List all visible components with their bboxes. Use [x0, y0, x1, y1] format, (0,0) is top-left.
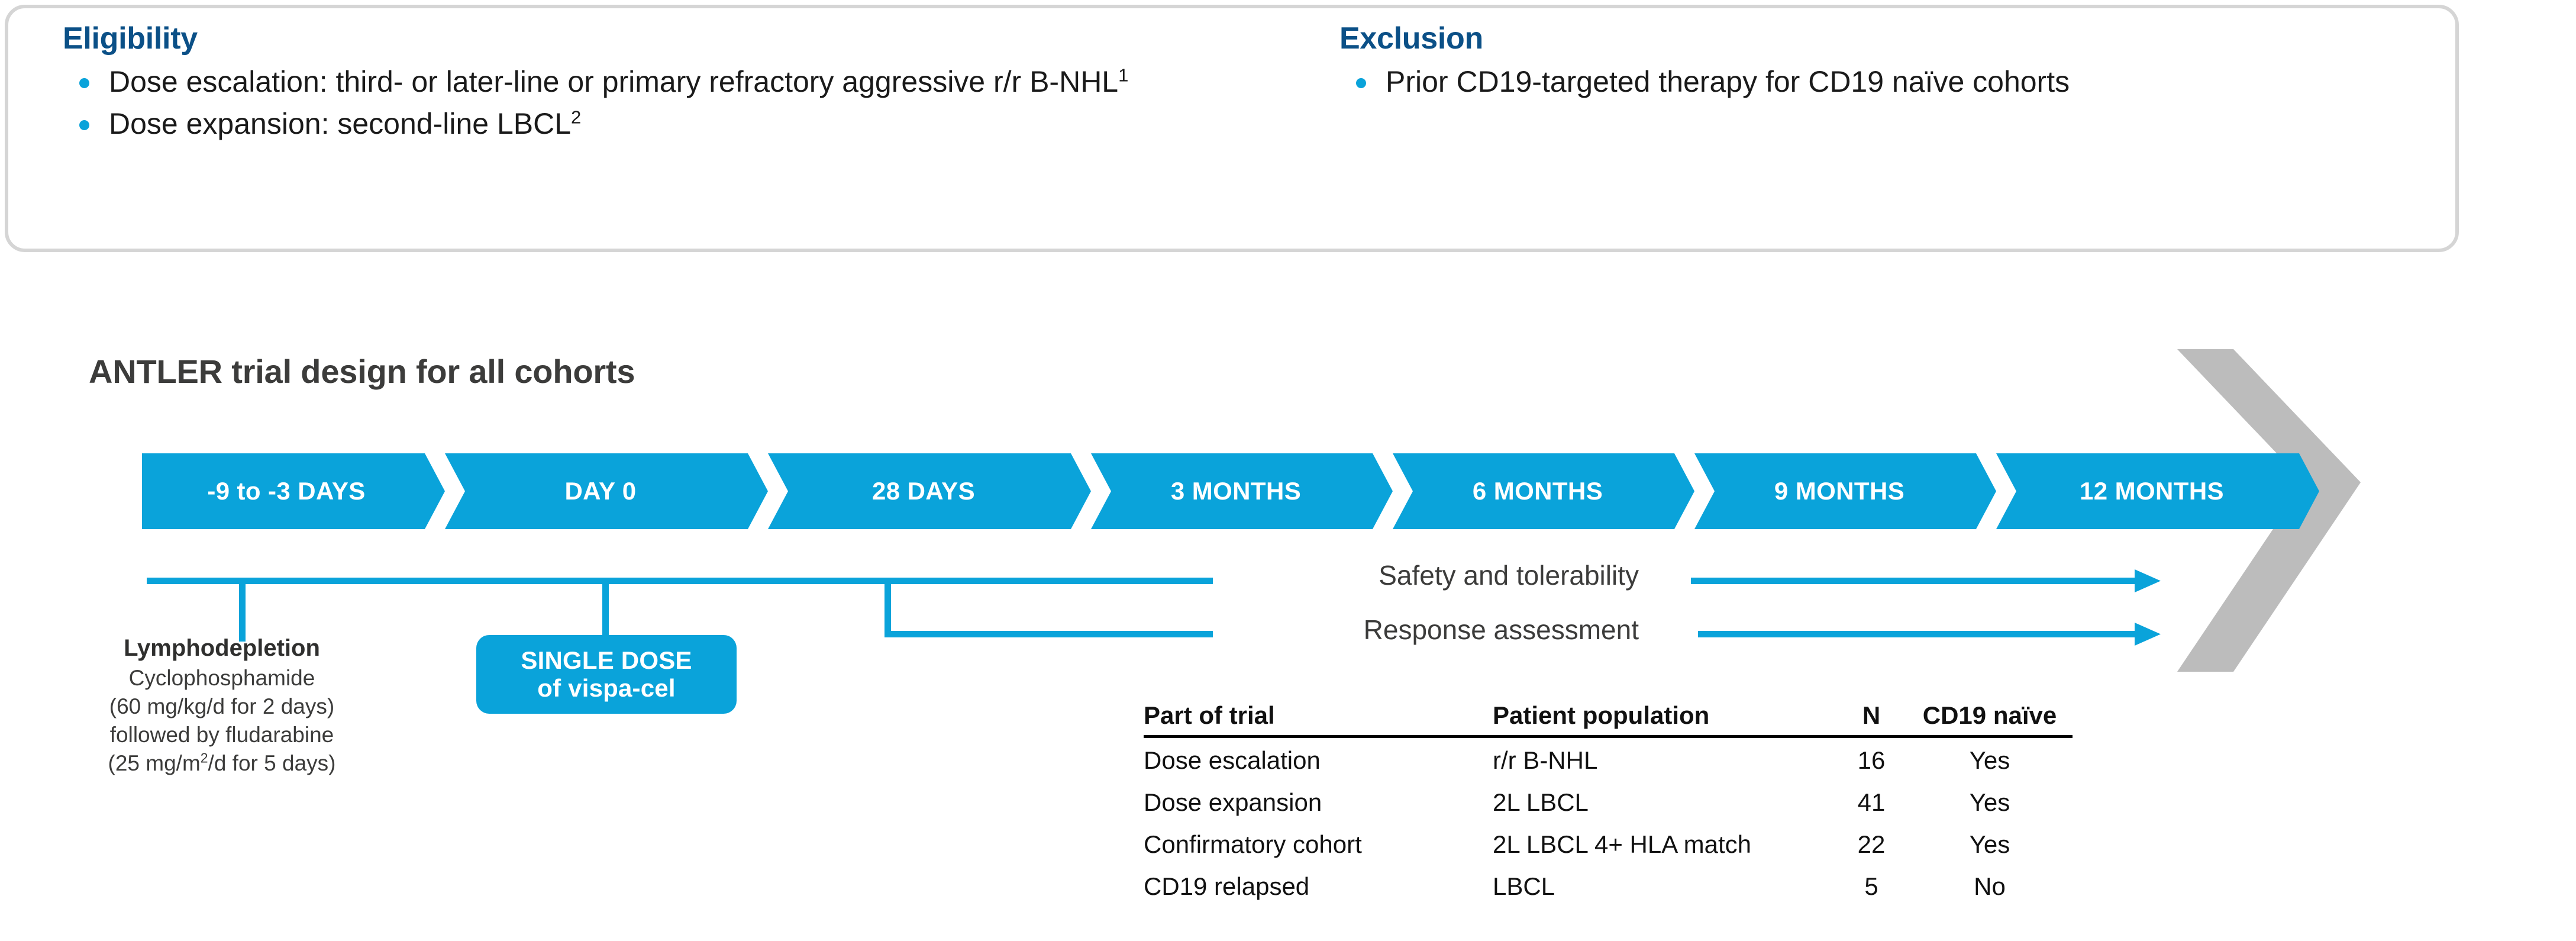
cell-part-1: Dose expansion	[1144, 780, 1493, 822]
cell-naive-2: Yes	[1907, 822, 2073, 864]
response-arrow-head-icon	[2135, 623, 2161, 646]
lymphodepletion-line-2: (60 mg/kg/d for 2 days)	[56, 692, 388, 721]
response-assessment-label: Response assessment	[1006, 614, 1639, 646]
column-header-part-of-trial: Part of trial	[1144, 701, 1493, 737]
lymphodepletion-line-4-before: (25 mg/m	[108, 751, 201, 775]
cohort-table-body: Dose escalation r/r B-NHL 16 Yes Dose ex…	[1144, 737, 2073, 907]
cell-population-0: r/r B-NHL	[1493, 737, 1836, 781]
lymphodepletion-line-3: followed by fludarabine	[56, 721, 388, 749]
cohort-table-head: Part of trial Patient population N CD19 …	[1144, 701, 2073, 737]
cell-part-2: Confirmatory cohort	[1144, 822, 1493, 864]
safety-arrow-shaft	[1691, 578, 2135, 584]
cell-naive-1: Yes	[1907, 780, 2073, 822]
cell-n-3: 5	[1836, 864, 1907, 906]
lymphodepletion-line-4: (25 mg/m2/d for 5 days)	[56, 749, 388, 778]
cell-n-0: 16	[1836, 737, 1907, 781]
cell-n-2: 22	[1836, 822, 1907, 864]
table-header-row: Part of trial Patient population N CD19 …	[1144, 701, 2073, 737]
lymphodepletion-callout: Lymphodepletion Cyclophosphamide (60 mg/…	[56, 633, 388, 778]
lymphodepletion-body: Cyclophosphamide (60 mg/kg/d for 2 days)…	[56, 664, 388, 778]
table-row: Dose expansion 2L LBCL 41 Yes	[1144, 780, 2073, 822]
safety-arrow-head-icon	[2135, 569, 2161, 592]
cohort-table: Part of trial Patient population N CD19 …	[1144, 701, 2073, 906]
connector-drop-single-dose	[602, 578, 609, 638]
cell-part-3: CD19 relapsed	[1144, 864, 1493, 906]
lymphodepletion-line-4-superscript: 2	[201, 750, 208, 766]
table-row: Dose escalation r/r B-NHL 16 Yes	[1144, 737, 2073, 781]
table-row: Confirmatory cohort 2L LBCL 4+ HLA match…	[1144, 822, 2073, 864]
lymphodepletion-line-4-after: /d for 5 days)	[208, 751, 336, 775]
table-row: CD19 relapsed LBCL 5 No	[1144, 864, 2073, 906]
connector-drop-lymphodepletion	[239, 578, 246, 642]
safety-and-tolerability-label: Safety and tolerability	[1006, 559, 1639, 591]
cell-population-2: 2L LBCL 4+ HLA match	[1493, 822, 1836, 864]
cell-n-1: 41	[1836, 780, 1907, 822]
cell-population-1: 2L LBCL	[1493, 780, 1836, 822]
column-header-patient-population: Patient population	[1493, 701, 1836, 737]
cell-naive-0: Yes	[1907, 737, 2073, 781]
trial-design-diagram: ANTLER trial design for all cohorts -9 t…	[0, 0, 2576, 941]
column-header-cd19-naive: CD19 naïve	[1907, 701, 2073, 737]
cell-population-3: LBCL	[1493, 864, 1836, 906]
single-dose-line-2: of vispa-cel	[476, 675, 737, 702]
single-dose-line-1: SINGLE DOSE	[476, 647, 737, 674]
single-dose-badge: SINGLE DOSE of vispa-cel	[476, 635, 737, 714]
response-arrow-shaft	[1698, 631, 2135, 637]
cell-part-0: Dose escalation	[1144, 737, 1493, 781]
lymphodepletion-title: Lymphodepletion	[56, 633, 388, 663]
lymphodepletion-line-1: Cyclophosphamide	[56, 664, 388, 692]
column-header-n: N	[1836, 701, 1907, 737]
connector-drop-response	[885, 578, 891, 637]
cell-naive-3: No	[1907, 864, 2073, 906]
